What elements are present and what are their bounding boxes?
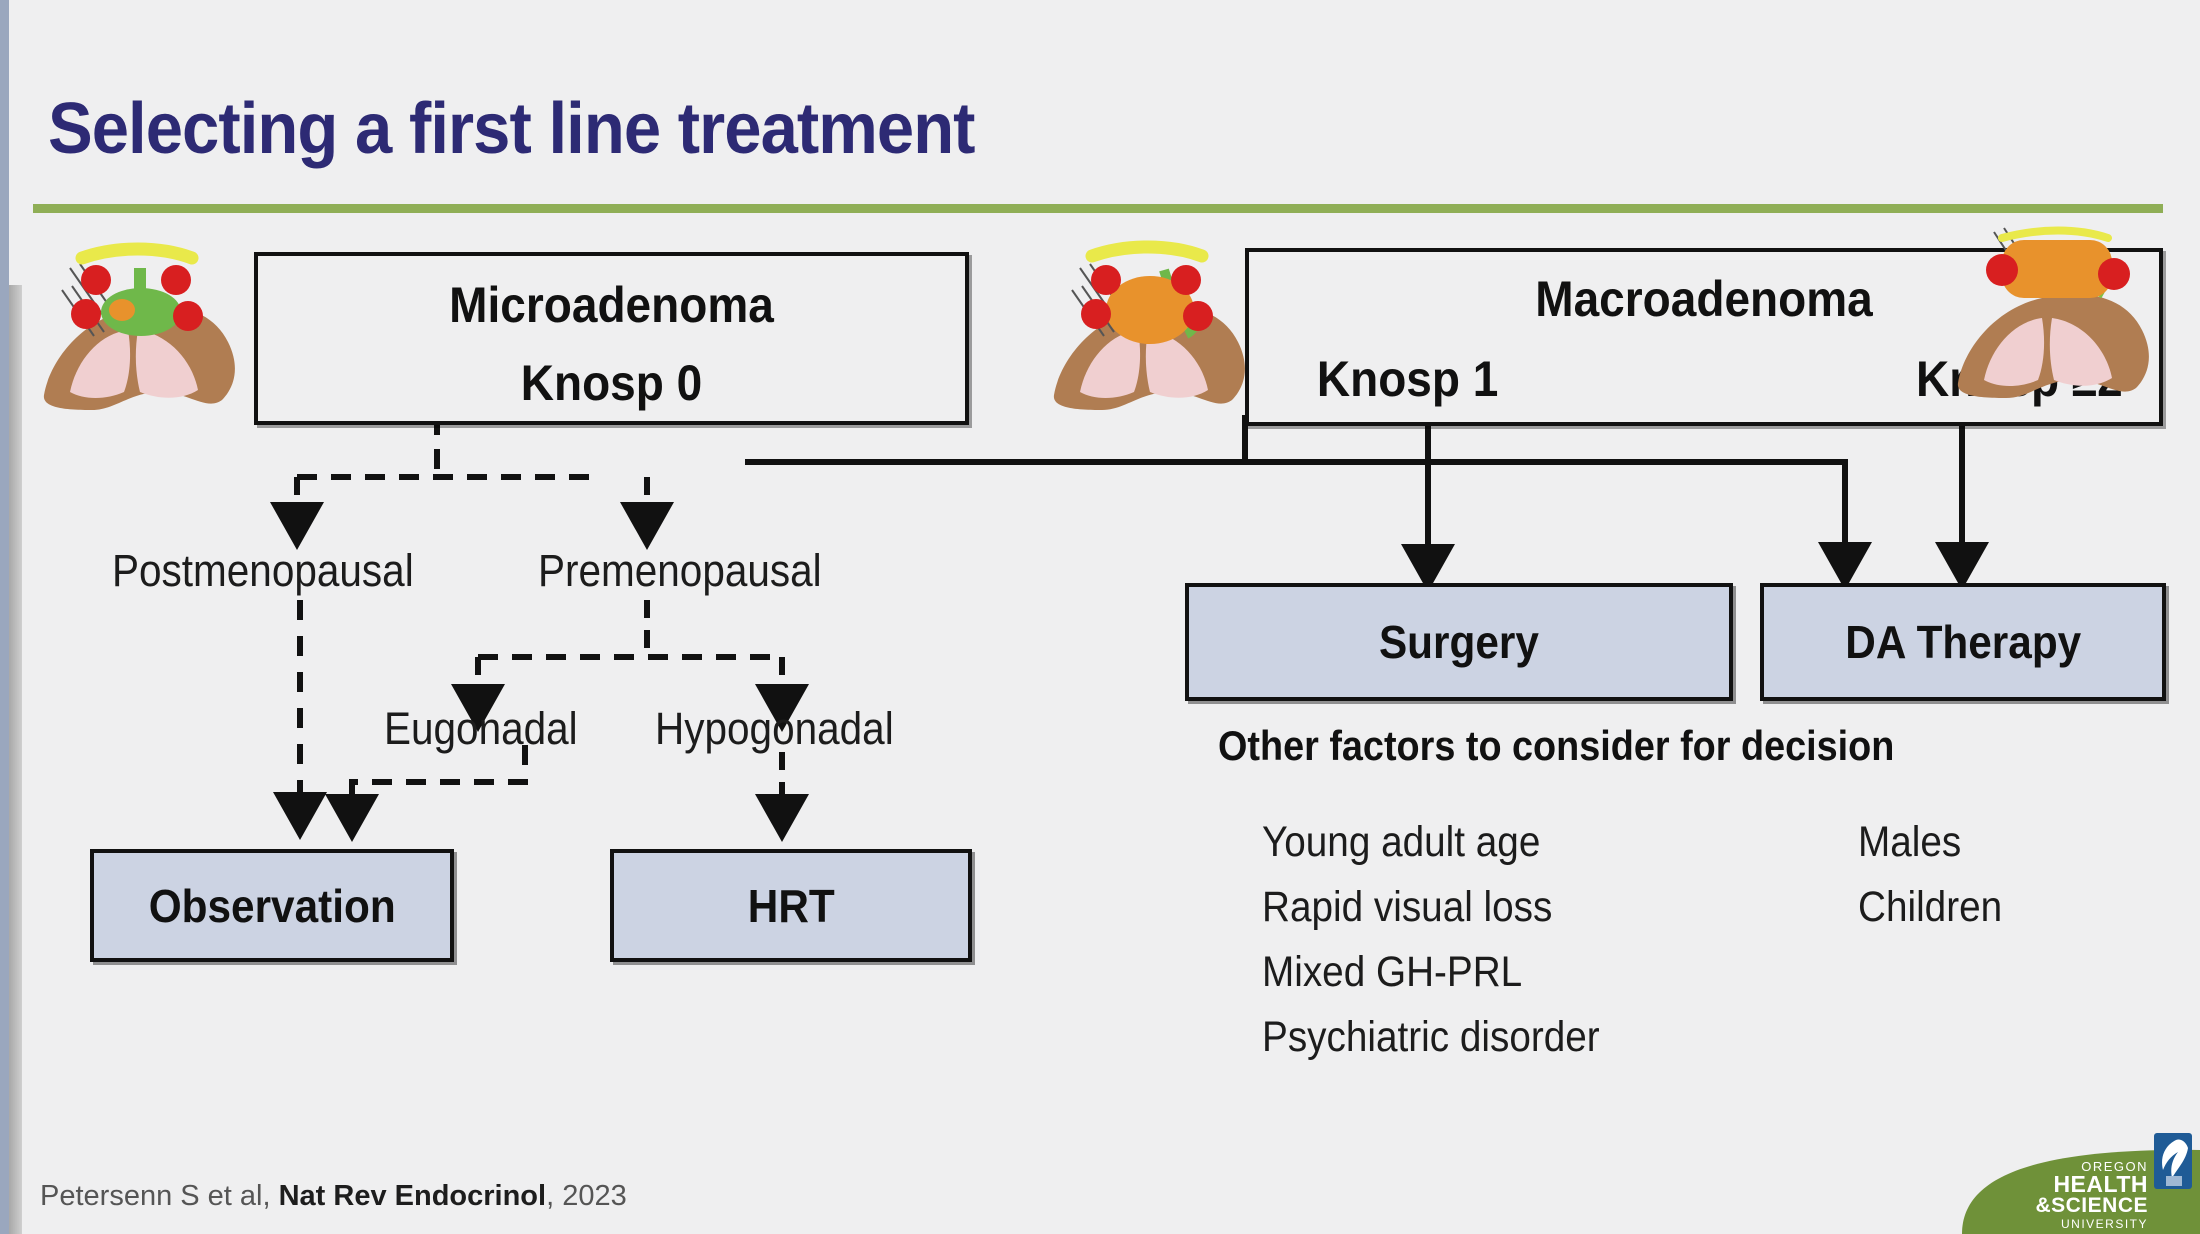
observation-label: Observation [149,879,396,933]
ohsu-badge-icon [2154,1133,2192,1189]
edge-filler [9,0,22,285]
citation-suffix: , 2023 [546,1180,627,1212]
factors-column-right: Males Children [1858,810,2002,940]
microadenoma-knosp: Knosp 0 [286,354,936,412]
page-title: Selecting a first line treatment [48,88,975,170]
factor-item: Psychiatric disorder [1262,1005,1600,1070]
factor-item: Rapid visual loss [1262,875,1600,940]
hrt-box[interactable]: HRT [610,849,972,962]
observation-box[interactable]: Observation [90,849,454,962]
macroadenoma-knosp-left: Knosp 1 [1317,350,1498,408]
ohsu-line2: HEALTH [2053,1171,2148,1197]
factor-item: Males [1858,810,2002,875]
citation: Petersenn S et al, Nat Rev Endocrinol, 2… [40,1180,627,1213]
slide-edge-shadow [9,285,22,1234]
macroadenoma-knosp-right: Knosp ≥2 [1916,350,2123,408]
ohsu-line1: OREGON [2081,1159,2148,1174]
ohsu-line4: UNIVERSITY [2061,1217,2148,1231]
ohsu-line3: &SCIENCE [2035,1194,2148,1217]
hrt-label: HRT [748,879,835,933]
citation-journal: Nat Rev Endocrinol [279,1180,547,1212]
factors-column-left: Young adult age Rapid visual loss Mixed … [1262,810,1600,1070]
macroadenoma-box[interactable]: Macroadenoma Knosp 1 Knosp ≥2 [1245,248,2163,426]
branch-postmenopausal: Postmenopausal [112,545,414,597]
window-scrollbar-edge[interactable] [0,0,9,1234]
microadenoma-title: Microadenoma [286,276,936,334]
presentation-slide: Selecting a first line treatment [0,0,2200,1234]
branch-eugonadal: Eugonadal [384,703,578,755]
branch-premenopausal: Premenopausal [538,545,822,597]
macroadenoma-title: Macroadenoma [1285,270,2122,328]
surgery-label: Surgery [1379,615,1539,669]
other-factors-heading: Other factors to consider for decision [1218,722,1894,770]
da-therapy-label: DA Therapy [1845,615,2081,669]
title-underline-rule [33,204,2163,213]
factor-item: Mixed GH-PRL [1262,940,1600,1005]
branch-hypogonadal: Hypogonadal [655,703,894,755]
da-therapy-box[interactable]: DA Therapy [1760,583,2166,701]
citation-prefix: Petersenn S et al, [40,1180,279,1212]
factor-item: Young adult age [1262,810,1600,875]
surgery-box[interactable]: Surgery [1185,583,1733,701]
factor-item: Children [1858,875,2002,940]
microadenoma-box[interactable]: Microadenoma Knosp 0 [254,252,969,425]
